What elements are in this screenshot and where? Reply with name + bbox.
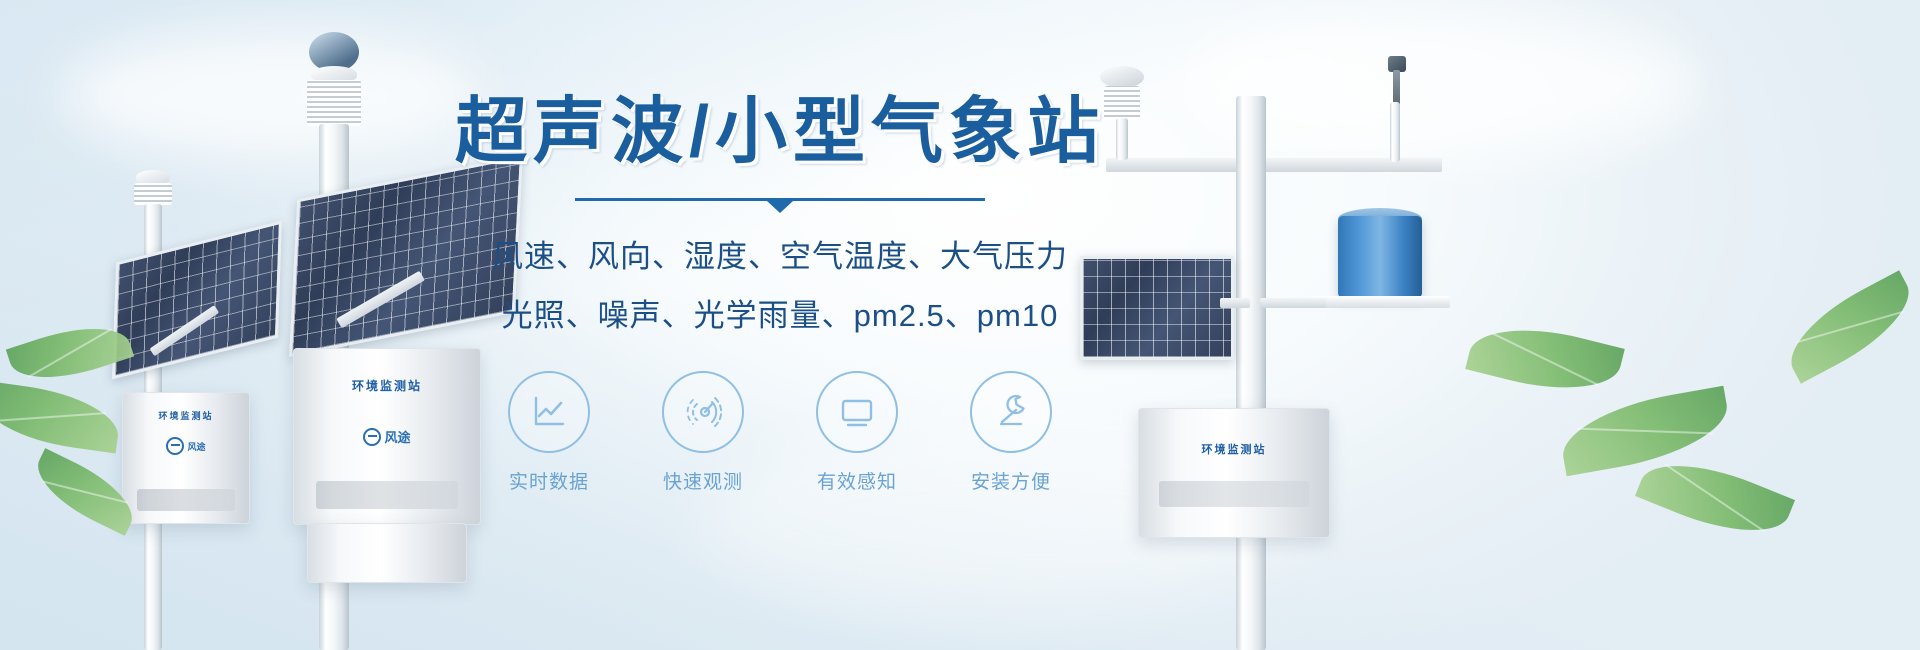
feature-icon-circle (662, 371, 744, 453)
leaf-decoration (1556, 386, 1734, 477)
feature-label: 快速观测 (655, 467, 751, 494)
cabinet-box: 环境监测站 风途 (122, 392, 250, 524)
title-divider (575, 198, 985, 201)
cabinet-label: 环境监测站 (1139, 441, 1329, 457)
feature-list: 实时数据 快速观测 (430, 371, 1130, 494)
product-banner: 环境监测站 风途 环境监测站 风途 (0, 0, 1920, 650)
feature-label: 有效感知 (809, 467, 905, 494)
sensor-stem (1390, 102, 1400, 162)
subtitle-line-2: 光照、噪声、光学雨量、pm2.5、pm10 (430, 290, 1130, 335)
support-arm (1260, 298, 1326, 308)
cabinet-box: 环境监测站 (1138, 408, 1330, 538)
support-arm (1220, 298, 1250, 308)
wind-vane-icon (1378, 56, 1414, 106)
feature-item-realtime-data[interactable]: 实时数据 (501, 371, 597, 494)
leaf-decoration (1635, 444, 1795, 552)
mast-pole (1236, 96, 1266, 650)
brand-name: 风途 (384, 427, 410, 446)
leaf-decoration (1776, 270, 1920, 383)
rain-gauge (1338, 216, 1422, 298)
monitor-icon (836, 391, 878, 433)
brand-mark-icon (166, 437, 184, 455)
cabinet-vent (1159, 481, 1309, 507)
wrench-icon (990, 391, 1032, 433)
feature-item-easy-install[interactable]: 安装方便 (963, 371, 1059, 494)
equipment-shelf (1310, 296, 1450, 308)
feature-icon-circle (970, 371, 1052, 453)
feature-item-fast-observation[interactable]: 快速观测 (655, 371, 751, 494)
brand-name: 风途 (187, 440, 205, 453)
feature-icon-circle (508, 371, 590, 453)
radiation-shield-icon (307, 80, 361, 126)
feature-label: 实时数据 (501, 467, 597, 494)
feature-label: 安装方便 (963, 467, 1059, 494)
ultrasonic-sensor-dome (1100, 66, 1144, 88)
cabinet-label: 环境监测站 (123, 409, 249, 422)
brand-logo: 风途 (123, 437, 249, 455)
subtitle-line-1: 风速、风向、湿度、空气温度、大气压力 (430, 231, 1130, 276)
feature-icon-circle (816, 371, 898, 453)
radiation-shield-icon (134, 183, 172, 205)
line-chart-icon (528, 391, 570, 433)
radar-signal-icon (682, 391, 724, 433)
feature-item-effective-sensing[interactable]: 有效感知 (809, 371, 905, 494)
brand-mark-icon (363, 428, 381, 446)
sensor-cap-icon (136, 170, 170, 184)
cabinet-vent (137, 489, 235, 511)
cabinet-base (307, 523, 467, 583)
banner-content: 超声波/小型气象站 风速、风向、湿度、空气温度、大气压力 光照、噪声、光学雨量、… (430, 96, 1130, 494)
page-title: 超声波/小型气象站 (430, 96, 1130, 168)
